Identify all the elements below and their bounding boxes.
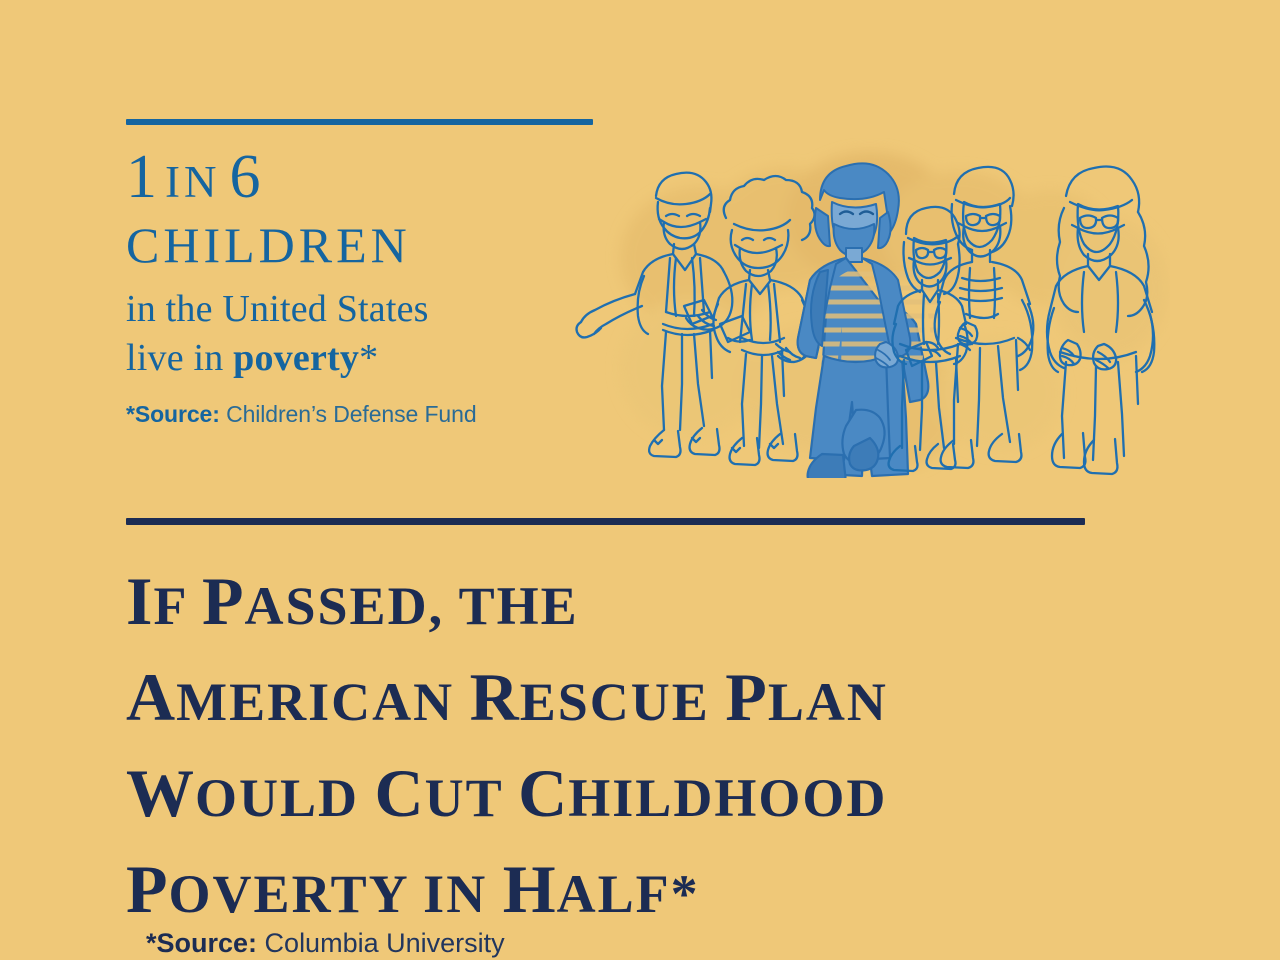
headline-l4-cap: P	[126, 851, 169, 927]
headline-l2-sc2: ESCUE	[520, 672, 726, 732]
headline-line-1: IF PASSED, THE	[126, 556, 1186, 652]
stat-ratio-line: 1IN6	[126, 146, 646, 213]
stat-subtitle: in the United States live in poverty*	[126, 285, 646, 383]
headline-l3-sc2: UT	[425, 768, 519, 828]
headline-l3-sc: OULD	[195, 768, 375, 828]
headline-source-line: *Source: Columbia University	[146, 928, 505, 959]
stat-source-line: *Source: Children’s Defense Fund	[126, 401, 477, 428]
statistic-block: 1IN6 CHILDREN in the United States live …	[126, 146, 646, 383]
section-divider-rule	[126, 518, 1085, 525]
poster-canvas: 1IN6 CHILDREN in the United States live …	[0, 0, 1280, 960]
stat-source-label: *Source:	[126, 401, 220, 427]
stat-connector: IN	[158, 157, 224, 207]
children-illustration	[570, 138, 1170, 478]
headline-l2-sc: MERICAN	[176, 672, 470, 732]
stat-noun: CHILDREN	[126, 215, 646, 275]
stat-number-first: 1	[126, 143, 158, 211]
headline-line-4: POVERTY IN HALF*	[126, 844, 1186, 940]
stat-subtitle-prefix: live in	[126, 337, 233, 379]
headline-l2-sc3: LAN	[768, 672, 888, 732]
headline-source-label: *Source:	[146, 928, 257, 958]
headline-line-3: WOULD CUT CHILDHOOD	[126, 748, 1186, 844]
stat-source-text: Children’s Defense Fund	[220, 401, 477, 427]
headline-l2-cap: A	[126, 659, 176, 735]
stat-number-second: 6	[224, 143, 261, 211]
headline-l1-sc2: ASSED, THE	[245, 576, 579, 636]
headline-l4-sc: OVERTY IN	[169, 864, 503, 924]
children-illustration-svg	[570, 138, 1170, 478]
headline-l2-cap2: R	[470, 659, 520, 735]
stat-subtitle-emphasis: poverty	[233, 337, 359, 379]
headline-l3-cap3: C	[518, 755, 568, 831]
headline-line-2: AMERICAN RESCUE PLAN	[126, 652, 1186, 748]
stat-subtitle-line1: in the United States	[126, 285, 646, 334]
headline-l1-cap2: P	[202, 563, 245, 639]
headline-source-text: Columbia University	[257, 928, 505, 958]
page-headline: IF PASSED, THE AMERICAN RESCUE PLAN WOUL…	[126, 556, 1186, 940]
headline-l1-sc: F	[153, 576, 201, 636]
headline-l3-sc3: HILDHOOD	[568, 768, 887, 828]
headline-l4-cap2: H	[503, 851, 557, 927]
stat-subtitle-line2: live in poverty*	[126, 334, 646, 383]
headline-l3-cap2: C	[375, 755, 425, 831]
headline-l3-cap: W	[126, 755, 195, 831]
stat-subtitle-asterisk: *	[359, 337, 378, 379]
headline-l2-cap3: P	[725, 659, 768, 735]
top-divider-rule	[126, 119, 593, 125]
headline-l4-sc2: ALF*	[557, 864, 700, 924]
headline-l1-cap: I	[126, 563, 153, 639]
